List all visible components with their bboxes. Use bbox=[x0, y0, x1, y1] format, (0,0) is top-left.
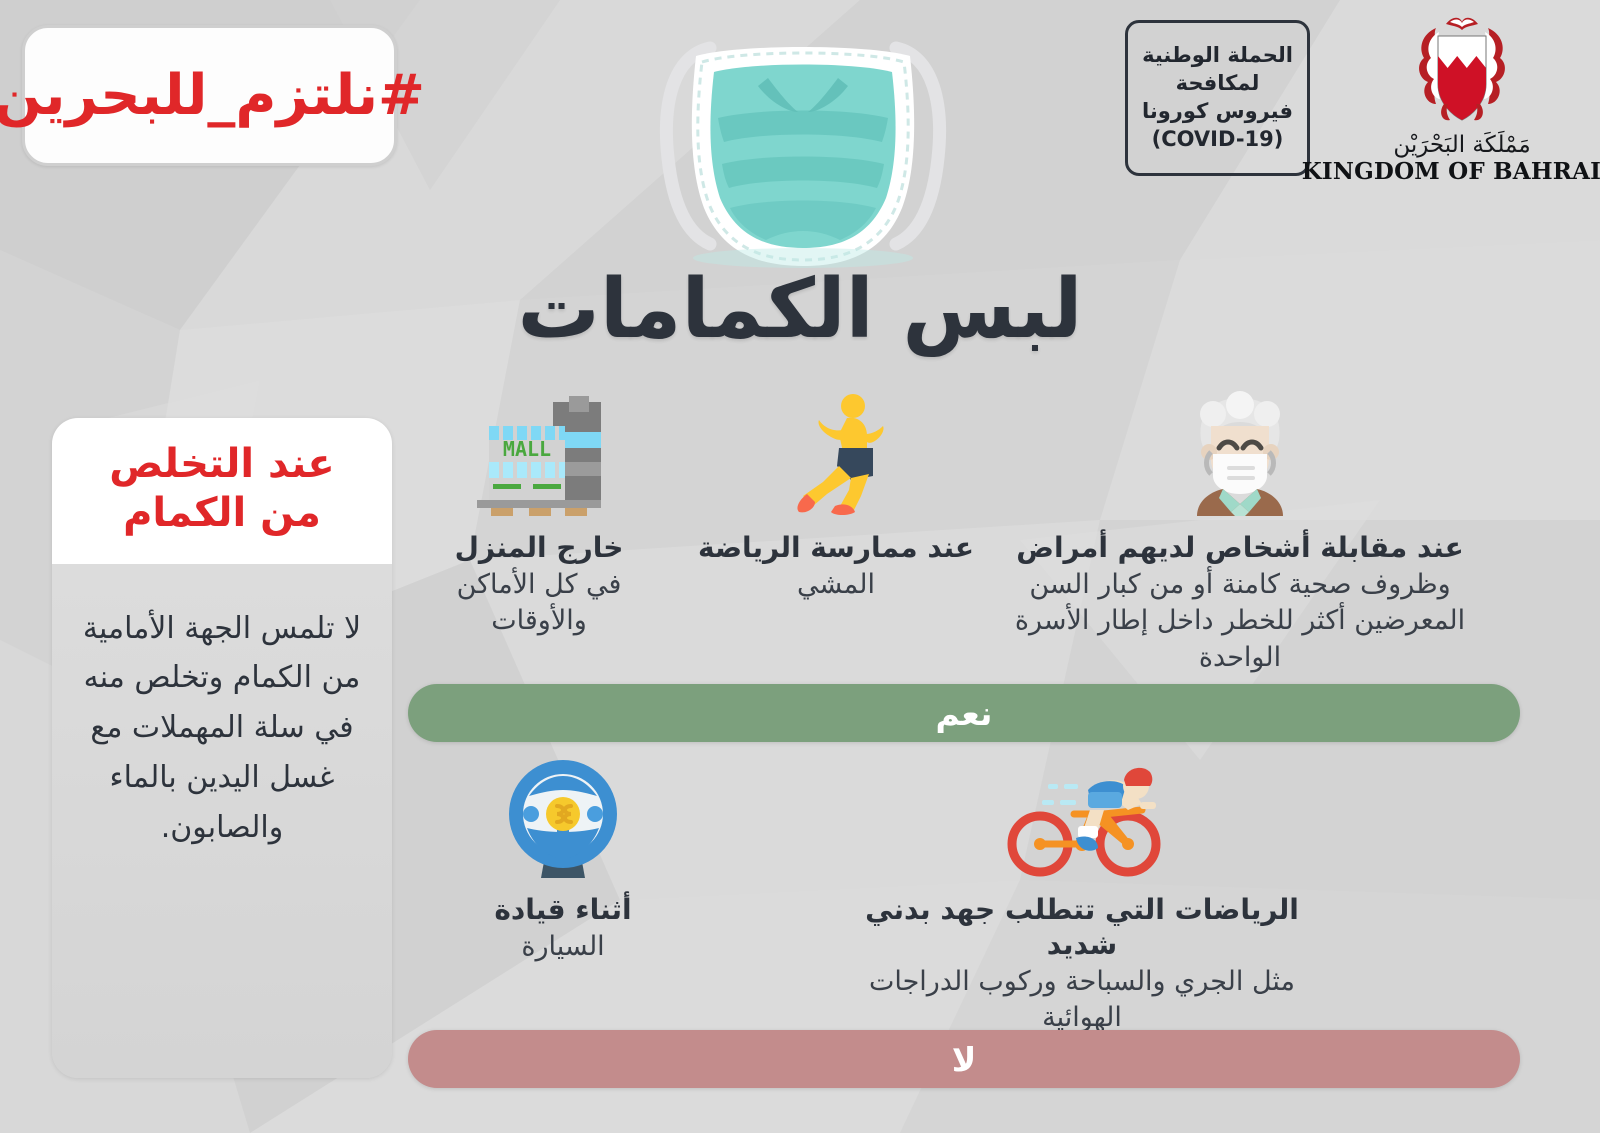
campaign-line-1: الحملة الوطنية bbox=[1142, 42, 1293, 70]
page-title: لبس الكمامات bbox=[0, 262, 1600, 357]
no-verdict-label: لا bbox=[952, 1040, 977, 1079]
emblem-english-label: KINGDOM OF BAHRAIN bbox=[1302, 158, 1600, 185]
campaign-line-2: لمكافحة bbox=[1176, 70, 1260, 98]
disposal-panel-title: عند التخلص من الكمام bbox=[72, 440, 372, 538]
yes-item-outside-home: MALL خارج المنزل في كل الأماكن والأوقات bbox=[408, 386, 670, 640]
item-title: عند مقابلة أشخاص لديهم أمراض bbox=[1016, 530, 1463, 565]
item-title: خارج المنزل bbox=[455, 530, 624, 565]
yes-verdict-label: نعم bbox=[936, 694, 993, 733]
disposal-panel-body: لا تلمس الجهة الأمامية من الكمام وتخلص م… bbox=[79, 604, 365, 853]
poster-canvas: #نلتزم_للبحرين لبس الكمامات الحملة bbox=[0, 0, 1600, 1133]
item-subtitle: وظروف صحية كامنة أو من كبار السن المعرضي… bbox=[980, 567, 1500, 676]
no-item-driving: أثناء قيادة السيارة bbox=[408, 748, 718, 965]
cyclist-icon bbox=[992, 748, 1172, 878]
no-verdict-bar: لا bbox=[408, 1030, 1520, 1088]
campaign-badge: الحملة الوطنية لمكافحة فيروس كورونا (COV… bbox=[1125, 20, 1310, 176]
no-items-row: أثناء قيادة السيارة bbox=[408, 748, 1520, 1020]
item-subtitle: المشي bbox=[797, 567, 875, 603]
item-subtitle: السيارة bbox=[521, 929, 604, 965]
item-subtitle: في كل الأماكن والأوقات bbox=[408, 567, 670, 640]
disposal-instructions-panel: عند التخلص من الكمام لا تلمس الجهة الأما… bbox=[52, 418, 392, 1078]
item-title: الرياضات التي تتطلب جهد بدني شديد bbox=[836, 892, 1328, 962]
mall-sign-text: MALL bbox=[503, 437, 551, 461]
hashtag-badge: #نلتزم_للبحرين bbox=[22, 25, 397, 166]
hashtag-text: #نلتزم_للبحرين bbox=[0, 63, 425, 128]
yes-items-row: MALL خارج المنزل في كل الأماكن والأوقات bbox=[408, 386, 1520, 676]
campaign-line-4: (COVID-19) bbox=[1152, 126, 1284, 154]
yes-item-meeting-vulnerable-people: عند مقابلة أشخاص لديهم أمراض وظروف صحية … bbox=[980, 386, 1500, 676]
yes-item-exercise: عند ممارسة الرياضة المشي bbox=[692, 386, 980, 603]
item-title: عند ممارسة الرياضة bbox=[698, 530, 974, 565]
steering-wheel-icon bbox=[503, 748, 623, 878]
running-person-icon bbox=[781, 386, 891, 516]
mall-building-icon: MALL bbox=[469, 386, 609, 516]
elderly-person-with-mask-icon bbox=[1179, 386, 1301, 516]
no-item-intense-sports: الرياضات التي تتطلب جهد بدني شديد مثل ال… bbox=[836, 748, 1328, 1037]
bahrain-coat-of-arms-icon bbox=[1402, 12, 1522, 130]
yes-verdict-bar: نعم bbox=[408, 684, 1520, 742]
item-title: أثناء قيادة bbox=[494, 892, 631, 927]
surgical-mask-icon bbox=[618, 8, 988, 276]
campaign-line-3: فيروس كورونا bbox=[1142, 98, 1293, 126]
emblem-arabic-label: مَمْلَكَة البَحْرَيْن bbox=[1393, 132, 1530, 158]
kingdom-of-bahrain-emblem: مَمْلَكَة البَحْرَيْن KINGDOM OF BAHRAIN bbox=[1338, 12, 1586, 192]
item-subtitle: مثل الجري والسباحة وركوب الدراجات الهوائ… bbox=[836, 964, 1328, 1037]
